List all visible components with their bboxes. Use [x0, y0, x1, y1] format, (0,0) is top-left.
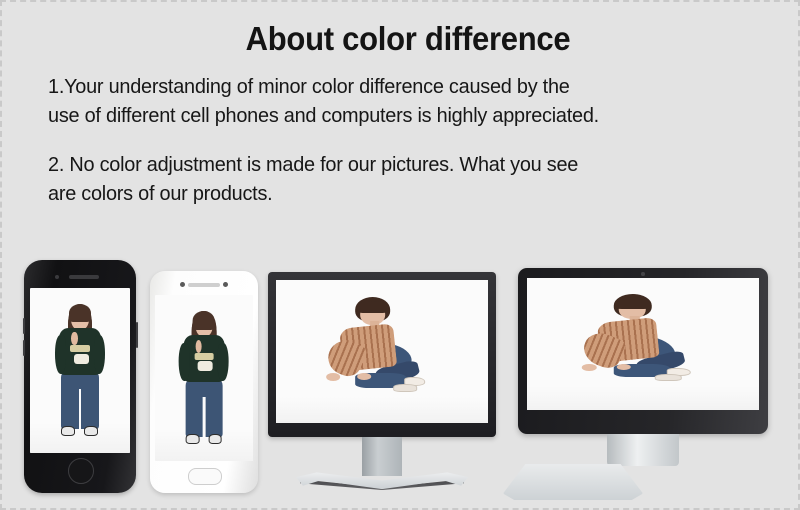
white-smartphone	[150, 271, 258, 493]
power-button[interactable]	[136, 322, 138, 348]
display-stand-base	[503, 464, 643, 500]
paragraph-2-line-1: 2. No color adjustment is made for our p…	[48, 150, 746, 179]
front-camera-icon	[55, 275, 59, 279]
seated-model-photo	[527, 278, 759, 410]
device-showcase	[2, 250, 800, 510]
front-camera-icon	[641, 272, 645, 276]
black-smartphone	[24, 260, 136, 493]
volume-down-button[interactable]	[23, 340, 25, 356]
display-bezel	[518, 268, 768, 434]
home-button[interactable]	[188, 468, 222, 485]
display-stand-neck	[607, 434, 679, 466]
pc-monitor	[268, 272, 496, 504]
paragraph-1-line-1: 1.Your understanding of minor color diff…	[48, 72, 746, 101]
earpiece-speaker-icon	[69, 275, 99, 279]
home-button[interactable]	[68, 458, 94, 484]
seated-model-figure	[569, 294, 717, 400]
volume-up-button[interactable]	[23, 318, 25, 334]
paragraph-color-difference: 1.Your understanding of minor color diff…	[48, 72, 746, 130]
standing-model-figure	[174, 308, 235, 451]
page-title: About color difference	[70, 20, 747, 58]
monitor-stand-neck	[362, 437, 402, 476]
apple-display	[518, 268, 768, 508]
standing-model-figure	[49, 301, 111, 443]
proximity-sensor-icon	[223, 282, 228, 287]
seated-model-photo	[276, 280, 488, 423]
color-difference-banner: About color difference 1.Your understand…	[0, 0, 800, 510]
apple-logo-icon	[636, 414, 650, 430]
seated-model-figure	[314, 297, 450, 411]
banner-text-area: About color difference 1.Your understand…	[2, 2, 800, 228]
paragraph-no-adjustment: 2. No color adjustment is made for our p…	[48, 150, 746, 208]
paragraph-2-line-2: are colors of our products.	[48, 179, 746, 208]
standing-model-photo	[30, 288, 130, 453]
standing-model-photo	[155, 295, 253, 461]
front-camera-icon	[180, 282, 185, 287]
paragraph-1-line-2: use of different cell phones and compute…	[48, 101, 746, 130]
monitor-bezel	[268, 272, 496, 437]
earpiece-speaker-icon	[188, 283, 220, 287]
